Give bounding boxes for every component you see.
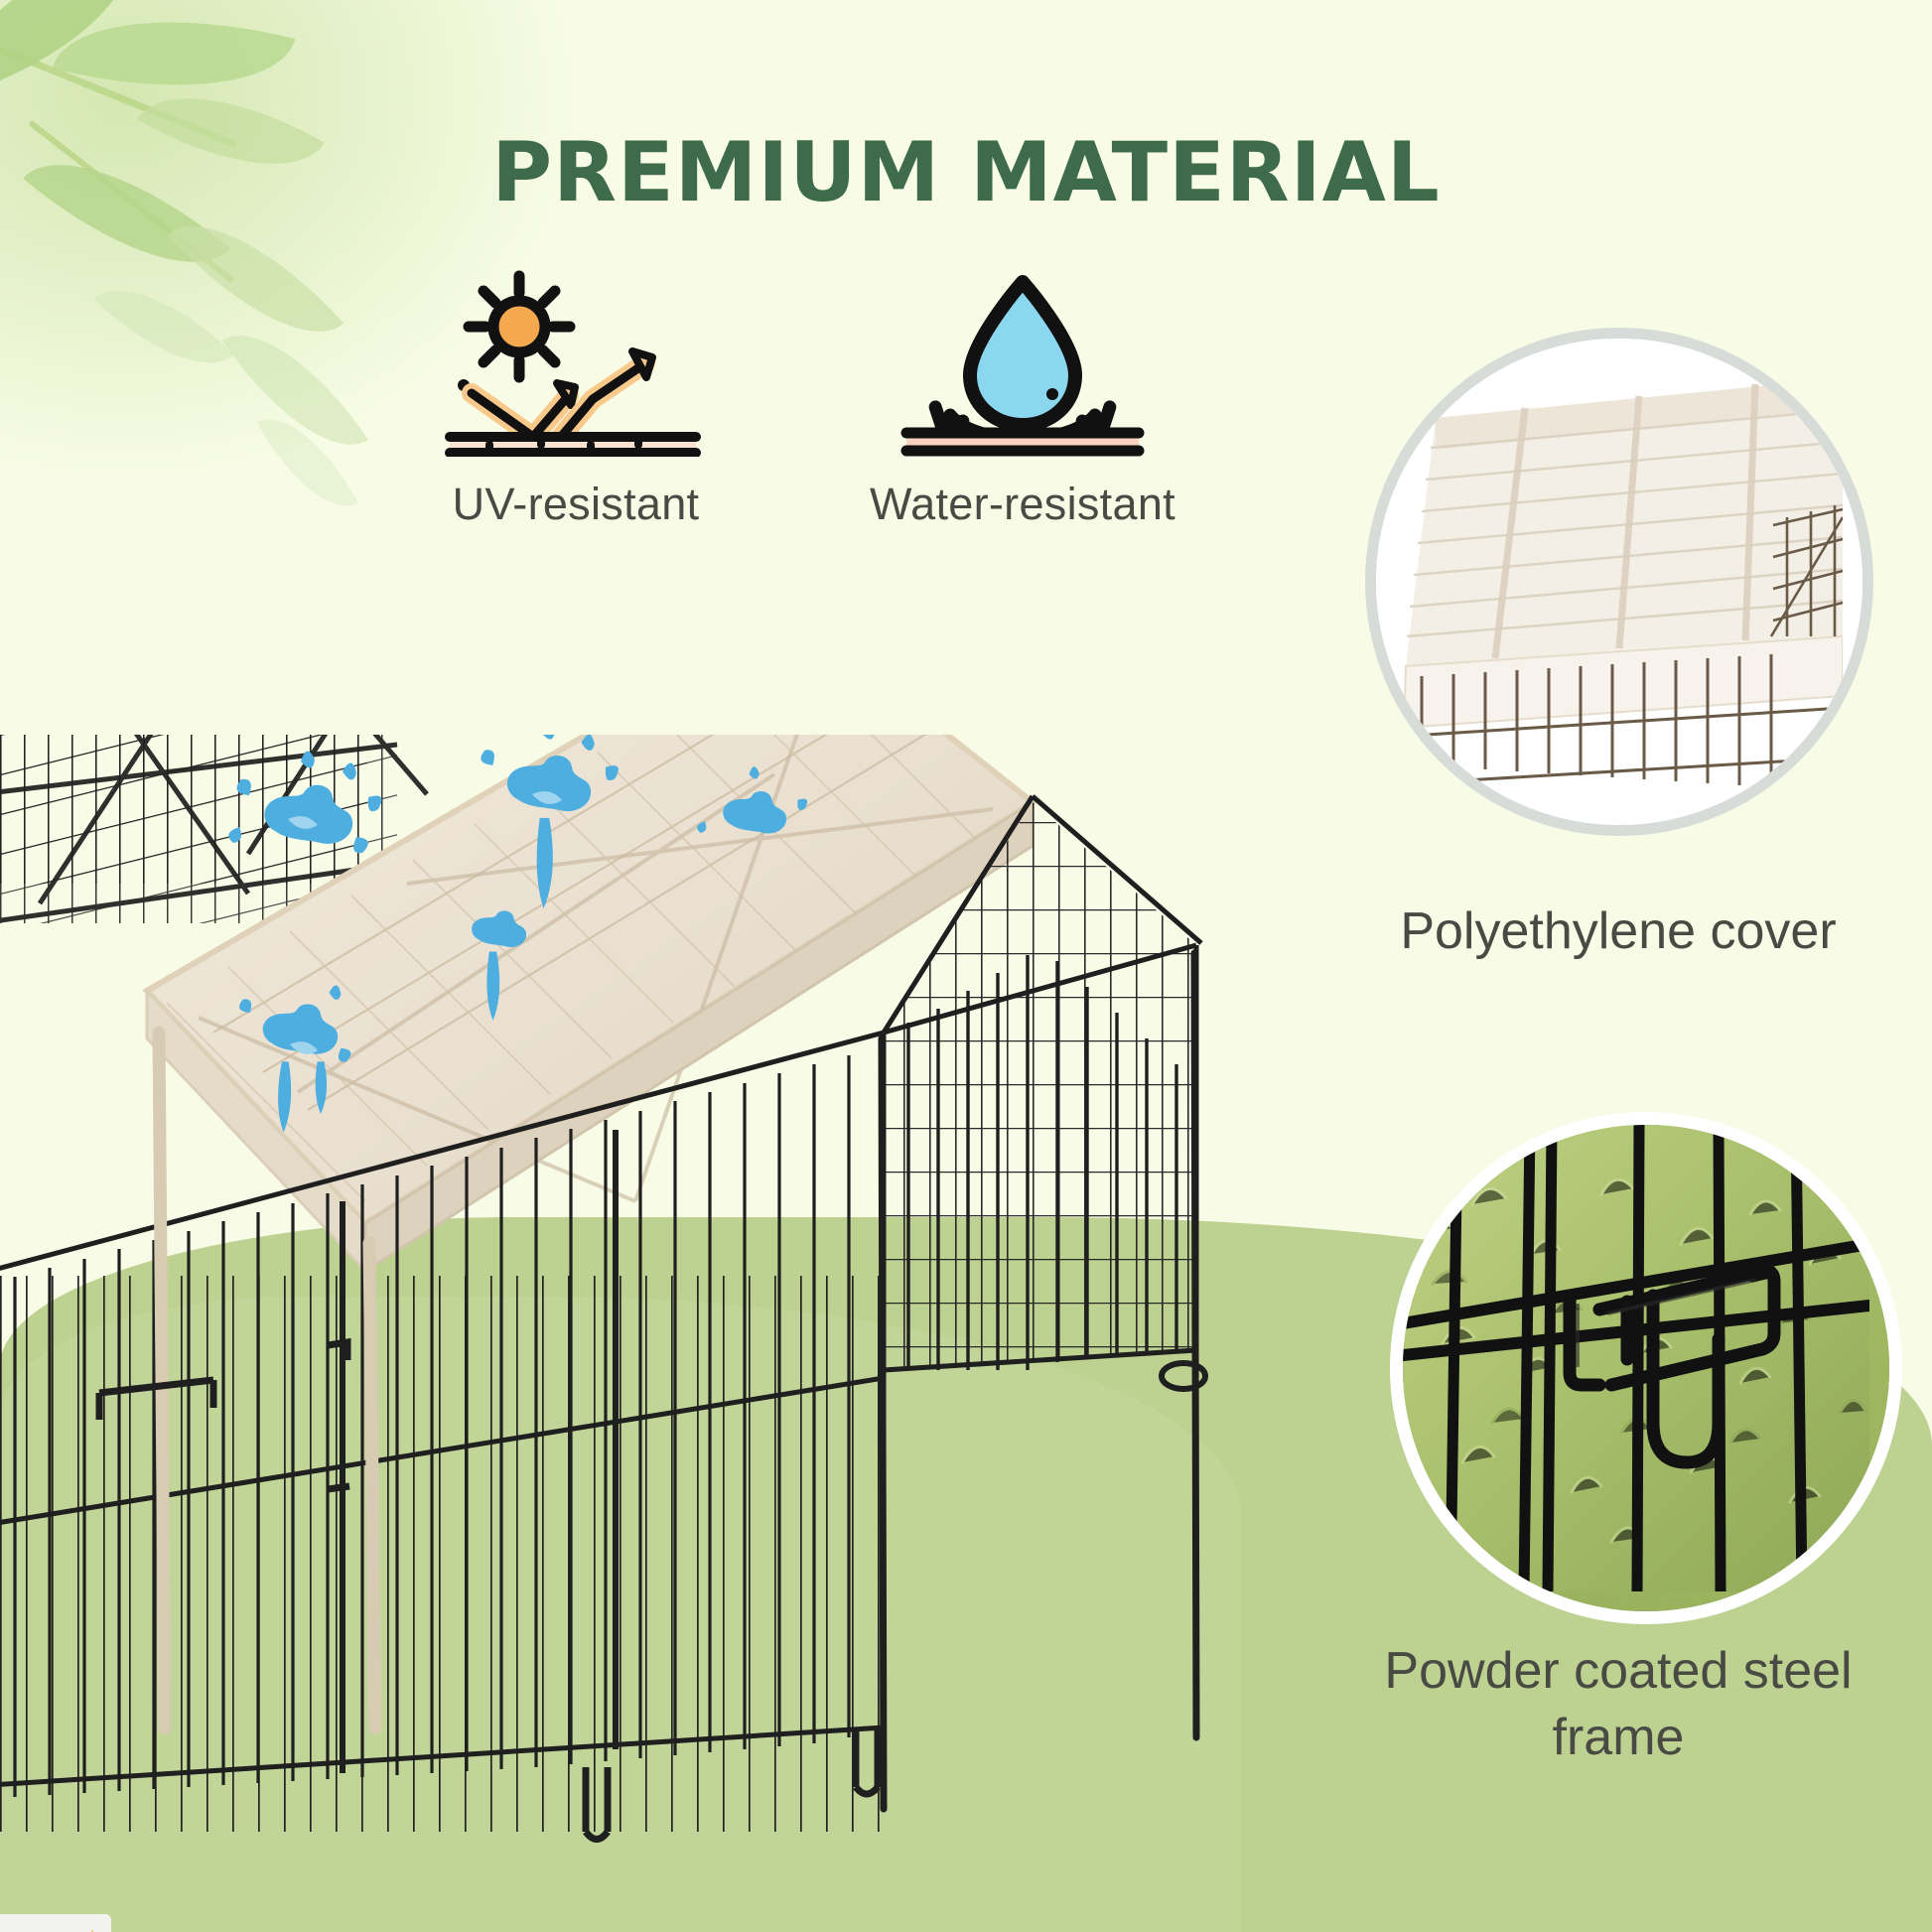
chicken-coop-drawing [0, 735, 1410, 1906]
callout-caption-polyethylene-cover: Polyethylene cover [1340, 898, 1896, 965]
steel-latch-closeup-illustration [1403, 1125, 1869, 1591]
product-illustration: PawHut ❄ [0, 735, 1410, 1906]
feature-label-uv-resistant: UV-resistant [453, 479, 700, 530]
uv-icon-wrapper [442, 268, 710, 457]
roof-closeup-illustration [1376, 339, 1843, 805]
page-title: PREMIUM MATERIAL [0, 124, 1932, 220]
inset-photo-polyethylene-cover [1365, 328, 1873, 836]
steel-frame-photo [1403, 1125, 1889, 1611]
feature-label-water-resistant: Water-resistant [870, 479, 1175, 530]
marketing-infographic: PREMIUM MATERIAL [0, 0, 1932, 1932]
feature-water-resistant: Water-resistant [874, 268, 1172, 530]
callout-caption-steel-frame: Powder coated steel frame [1320, 1638, 1916, 1770]
water-droplet-repel-icon [898, 268, 1147, 457]
inset-photo-steel-frame [1390, 1112, 1902, 1624]
feature-list: UV-resistant Water-resist [427, 268, 1320, 530]
sun-on-fabric-icon [442, 268, 710, 457]
pawhut-logo-tag: PawHut ❄ [0, 1914, 111, 1932]
polyethylene-cover-photo [1376, 339, 1863, 825]
feature-uv-resistant: UV-resistant [427, 268, 725, 530]
water-icon-wrapper [898, 268, 1147, 457]
paw-icon: ❄ [80, 1926, 97, 1932]
